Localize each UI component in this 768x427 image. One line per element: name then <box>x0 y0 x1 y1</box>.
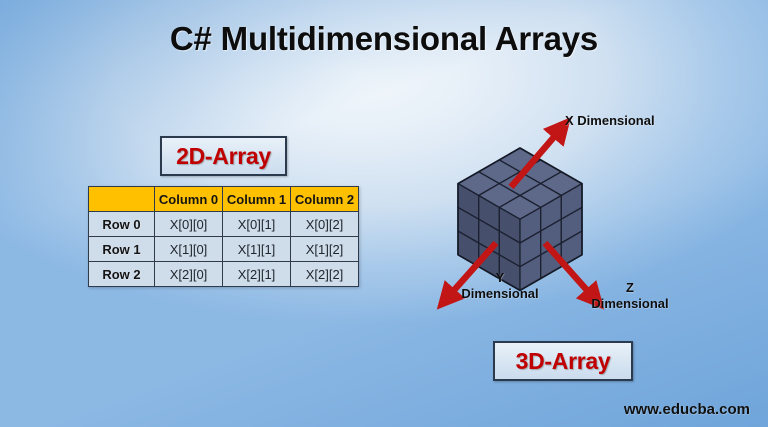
y-dimensional-label-line1: Y <box>440 270 560 286</box>
site-watermark: www.educba.com <box>624 401 750 418</box>
column-header-1: Column 1 <box>223 187 291 212</box>
three-d-cube-illustration: X Dimensional Y Dimensional Z Dimensiona… <box>420 100 750 330</box>
label-box-3d-array: 3D-Array <box>493 341 633 381</box>
row-header-0: Row 0 <box>89 212 155 237</box>
cell-2-1: X[2][1] <box>223 262 291 287</box>
z-dimensional-label-line2: Dimensional <box>570 296 690 312</box>
z-dimensional-label-line1: Z <box>570 280 690 296</box>
label-3d-array: 3D-Array <box>516 348 611 375</box>
cell-0-2: X[0][2] <box>291 212 359 237</box>
row-header-2: Row 2 <box>89 262 155 287</box>
x-dimensional-label: X Dimensional <box>565 113 655 129</box>
two-d-array-table: Column 0 Column 1 Column 2 Row 0 X[0][0]… <box>88 186 359 287</box>
cell-2-2: X[2][2] <box>291 262 359 287</box>
table-row: Row 1 X[1][0] X[1][1] X[1][2] <box>89 237 359 262</box>
two-d-array-table-wrapper: Column 0 Column 1 Column 2 Row 0 X[0][0]… <box>88 186 359 287</box>
cell-1-0: X[1][0] <box>155 237 223 262</box>
column-header-2: Column 2 <box>291 187 359 212</box>
table-corner-cell <box>89 187 155 212</box>
z-dimensional-label: Z Dimensional <box>570 280 690 312</box>
cell-1-1: X[1][1] <box>223 237 291 262</box>
page-title: C# Multidimensional Arrays <box>0 20 768 58</box>
cell-2-0: X[2][0] <box>155 262 223 287</box>
table-row: Row 0 X[0][0] X[0][1] X[0][2] <box>89 212 359 237</box>
cell-0-0: X[0][0] <box>155 212 223 237</box>
table-row: Row 2 X[2][0] X[2][1] X[2][2] <box>89 262 359 287</box>
y-dimensional-label-line2: Dimensional <box>440 286 560 302</box>
label-2d-array: 2D-Array <box>176 143 271 170</box>
cell-0-1: X[0][1] <box>223 212 291 237</box>
label-box-2d-array: 2D-Array <box>160 136 287 176</box>
cell-1-2: X[1][2] <box>291 237 359 262</box>
slide-canvas: C# Multidimensional Arrays 2D-Array Colu… <box>0 0 768 427</box>
table-header-row: Column 0 Column 1 Column 2 <box>89 187 359 212</box>
column-header-0: Column 0 <box>155 187 223 212</box>
row-header-1: Row 1 <box>89 237 155 262</box>
y-dimensional-label: Y Dimensional <box>440 270 560 302</box>
